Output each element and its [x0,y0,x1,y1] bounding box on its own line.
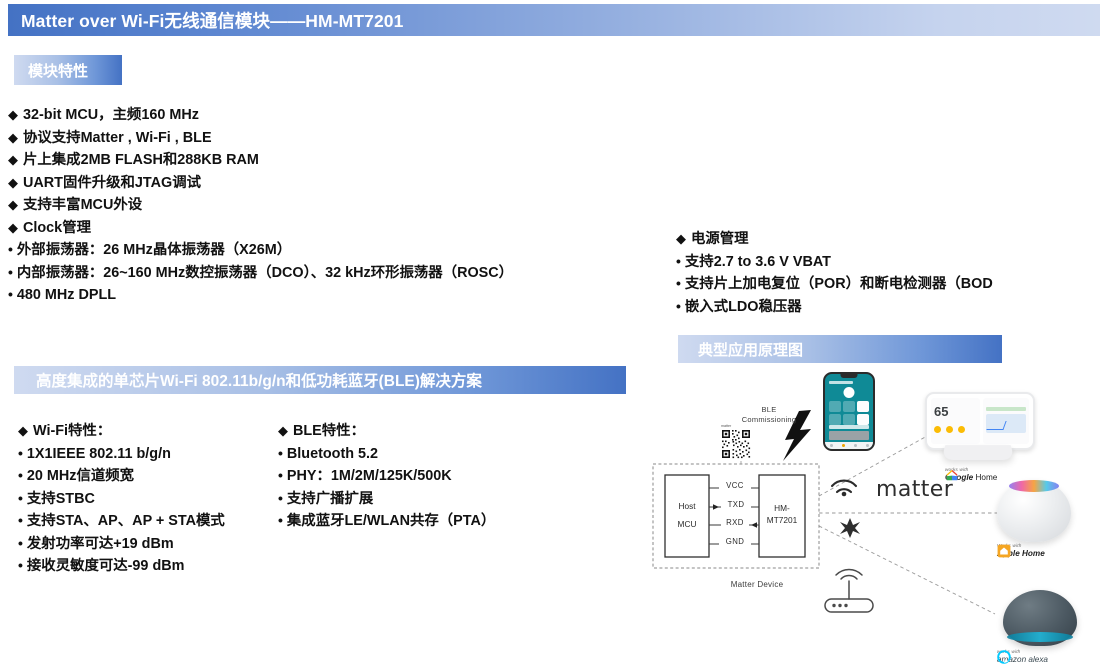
slide-title-bar: Matter over Wi-Fi无线通信模块——HM-MT7201 [8,4,1100,36]
works-with-google-home-badge: works with Google Home [945,468,997,482]
bullet-marker-icon: ◆ [8,149,18,171]
nest-hub-weather-panel: 65 [931,398,980,444]
signal-label-gnd: GND [719,537,751,546]
bullet-marker-icon: • [18,488,23,510]
list-item-label: 1X1IEEE 802.11 b/g/n [27,444,171,466]
works-with-amazon-alexa-badge: works with amazon alexa [997,650,1048,664]
list-item-label: 支持丰富MCU外设 [23,195,142,217]
bullet-marker-icon: • [18,465,23,487]
bullet-marker-icon: • [278,443,283,465]
matter-qr-code: matter [719,424,753,466]
module-box-line-1: HM- [759,503,805,513]
list-item-label: 支持片上加电复位（POR）和断电检测器（BOD [685,274,993,296]
bullet-marker-icon: ◆ [8,104,18,126]
list-item-label: 支持广播扩展 [287,489,373,511]
list-item-label: 协议支持Matter , Wi-Fi , BLE [23,128,212,150]
nest-hub-map [986,414,1026,433]
nest-hub-info-panel [983,398,1029,444]
bullet-marker-icon: • [278,488,283,510]
list-item-label: UART固件升级和JTAG调试 [23,173,201,195]
amazon-alexa-icon [997,650,1011,664]
list-item-label: 20 MHz信道频宽 [27,466,134,488]
nest-hub-temperature: 65 [934,405,977,418]
list-item: ◆Wi-Fi特性： [18,420,278,443]
bullet-marker-icon: • [676,251,681,273]
bullet-marker-icon: ◆ [8,172,18,194]
bullet-marker-icon: • [18,555,23,577]
list-item: •Bluetooth 5.2 [278,443,578,466]
bullet-marker-icon: • [278,465,283,487]
list-item: ◆UART固件升级和JTAG调试 [8,172,658,195]
bullet-marker-icon: • [18,533,23,555]
bullet-marker-icon: ◆ [676,228,686,250]
list-item-label: Clock管理 [23,218,91,240]
bullet-marker-icon: ◆ [278,420,288,442]
amazon-echo-dot-image [1003,590,1077,646]
list-item-label: PHY：1M/2M/125K/500K [287,466,452,488]
list-item: ◆BLE特性： [278,420,578,443]
list-item: •发射功率可达+19 dBm [18,533,278,556]
list-item: •支持STBC [18,488,278,511]
host-mcu-line-1: Host [665,501,709,511]
list-item: ◆支持丰富MCU外设 [8,194,658,217]
list-item: •内部振荡器：26~160 MHz数控振荡器（DCO）、32 kHz环形振荡器（… [8,262,658,285]
list-item-label: Bluetooth 5.2 [287,444,378,466]
bullet-marker-icon: • [8,284,13,306]
bullet-marker-icon: • [676,296,681,318]
list-item: •接收灵敏度可达-99 dBm [18,555,278,578]
list-item: ◆32-bit MCU，主频160 MHz [8,104,658,127]
ble-features-list: ◆BLE特性：•Bluetooth 5.2•PHY：1M/2M/125K/500… [278,420,578,533]
homepod-light-ring [1009,480,1059,492]
apple-home-icon [997,544,1011,558]
list-item: •1X1IEEE 802.11 b/g/n [18,443,278,466]
list-item: •480 MHz DPLL [8,284,658,307]
list-item-label: 集成蓝牙LE/WLAN共存（PTA） [287,511,495,533]
list-item-label: Wi-Fi特性： [33,421,111,443]
phone-tile-grid [829,401,869,425]
google-badge-brand2: Home [973,473,997,482]
nest-hub-screen: 65 [925,392,1035,450]
matter-wordmark: matter [876,477,953,502]
list-item: •支持STA、AP、AP + STA模式 [18,510,278,533]
application-schematic-diagram: VCC TXD RXD GND Host MCU HM- MT7201 Matt… [645,368,1107,641]
phone-tab-bar [825,442,873,449]
host-mcu-line-2: MCU [665,519,709,529]
list-item-label: 接收灵敏度可达-99 dBm [27,556,185,578]
list-item: •支持2.7 to 3.6 V VBAT [676,251,1096,274]
phone-wide-row [829,425,869,429]
google-home-icon [945,468,959,482]
bullet-marker-icon: • [8,262,13,284]
list-item: ◆片上集成2MB FLASH和288KB RAM [8,149,658,172]
qr-code-icon [721,429,751,459]
bullet-marker-icon: ◆ [18,420,28,442]
list-item: •集成蓝牙LE/WLAN共存（PTA） [278,510,578,533]
bullet-marker-icon: ◆ [8,127,18,149]
list-item-label: 32-bit MCU，主频160 MHz [23,105,199,127]
list-item: •PHY：1M/2M/125K/500K [278,465,578,488]
section-badge-schematic-label: 典型应用原理图 [678,339,803,360]
list-item: ◆ Clock管理 [8,217,658,240]
list-item-label: 发射功率可达+19 dBm [27,534,174,556]
phone-notch [841,374,858,378]
bullet-marker-icon: • [18,443,23,465]
list-item-label: 片上集成2MB FLASH和288KB RAM [23,150,259,172]
list-item-label: 内部振荡器：26~160 MHz数控振荡器（DCO）、32 kHz环形振荡器（R… [17,263,513,285]
works-with-apple-home-badge: Works with Apple Home [997,544,1045,558]
list-item: •支持片上加电复位（POR）和断电检测器（BOD [676,273,1096,296]
signal-label-rxd: RXD [721,518,749,527]
power-management-list: ◆ 电源管理•支持2.7 to 3.6 V VBAT•支持片上加电复位（POR）… [676,228,1096,318]
phone-camera-preview [829,431,869,440]
list-item-label: BLE特性： [293,421,365,443]
qr-matter-caption: matter [721,424,731,428]
section-badge-soc-solution-label: 高度集成的单芯片Wi-Fi 802.11b/g/n和低功耗蓝牙(BLE)解决方案 [14,369,482,391]
ble-commissioning-label: BLE Commissioning [731,405,807,425]
smartphone-app-image [823,372,875,451]
list-item: •嵌入式LDO稳压器 [676,296,1096,319]
list-item: •支持广播扩展 [278,488,578,511]
list-item-label: 支持2.7 to 3.6 V VBAT [685,252,831,274]
list-item-label: 外部振荡器：26 MHz晶体振荡器（X26M） [17,240,291,262]
section-badge-module-features: 模块特性 [14,55,122,85]
bullet-marker-icon: • [18,510,23,532]
list-item: ◆协议支持Matter , Wi-Fi , BLE [8,127,658,150]
bullet-marker-icon: ◆ [8,217,18,239]
list-item: •20 MHz信道频宽 [18,465,278,488]
signal-label-vcc: VCC [719,481,751,490]
list-item-label: 支持STBC [27,489,95,511]
section-badge-schematic: 典型应用原理图 [678,335,1002,363]
list-item: •外部振荡器：26 MHz晶体振荡器（X26M） [8,239,658,262]
section-badge-module-features-label: 模块特性 [14,60,88,81]
phone-main-dial [844,387,855,398]
list-item-label: 嵌入式LDO稳压器 [685,297,802,319]
bullet-marker-icon: • [8,239,13,261]
bullet-marker-icon: ◆ [8,194,18,216]
module-features-list: ◆32-bit MCU，主频160 MHz◆协议支持Matter , Wi-Fi… [8,104,658,307]
section-badge-soc-solution: 高度集成的单芯片Wi-Fi 802.11b/g/n和低功耗蓝牙(BLE)解决方案 [14,366,626,394]
page-title: Matter over Wi-Fi无线通信模块——HM-MT7201 [8,8,403,33]
matter-device-label: Matter Device [697,580,817,590]
bullet-marker-icon: • [676,273,681,295]
google-nest-hub-image: 65 [925,392,1031,464]
list-item-label: 电源管理 [691,229,749,251]
list-item-label: 480 MHz DPLL [17,285,116,307]
nest-hub-stand [940,445,1016,460]
bullet-marker-icon: • [278,510,283,532]
wifi-features-list: ◆Wi-Fi特性：•1X1IEEE 802.11 b/g/n•20 MHz信道频… [18,420,278,578]
list-item-label: 支持STA、AP、AP + STA模式 [27,511,225,533]
homepod-mini-image [997,480,1071,542]
module-box-line-2: MT7201 [759,515,805,525]
list-item: ◆ 电源管理 [676,228,1096,251]
signal-label-txd: TXD [721,500,751,509]
slide-root: Matter over Wi-Fi无线通信模块——HM-MT7201 模块特性 … [0,0,1107,641]
